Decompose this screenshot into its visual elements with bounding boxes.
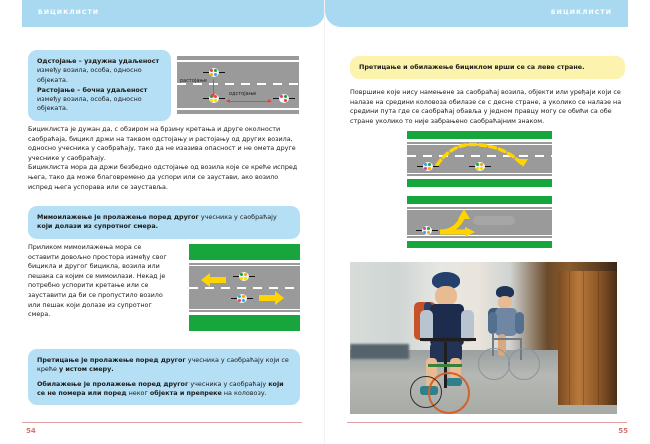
overtaking-line-1: Претицање је пролажење поред другог учес… [37, 356, 291, 375]
bicycle-going-around [416, 226, 438, 235]
asphalt [177, 56, 299, 114]
rider-dot [238, 295, 241, 298]
left-footer-rule [22, 422, 302, 423]
arrow-left-head [201, 273, 210, 287]
rider-dot [480, 167, 483, 170]
rider-dot [427, 231, 430, 234]
grass-bottom [189, 315, 300, 331]
door-slat [569, 271, 570, 405]
bicycle-upper [233, 272, 255, 281]
door-slat [598, 271, 599, 405]
sleeve-right [515, 312, 524, 334]
arrow-right-head [275, 291, 284, 305]
torso [495, 308, 517, 336]
road-diagram-overtaking-cyclist [407, 131, 552, 187]
photo-two-boys-cycling [350, 262, 617, 414]
around-path-arrows [407, 196, 552, 248]
left-page-header: БИЦИКЛИСТИ [22, 0, 325, 27]
rider-dot [214, 69, 217, 72]
rider-dot [284, 99, 287, 102]
rider-dot [476, 163, 479, 166]
rider-dot [423, 231, 426, 234]
rider-dot [210, 73, 213, 76]
road-diagram-distance: растојање одстојање [177, 56, 299, 114]
right-page-header: БИЦИКЛИСТИ [325, 0, 628, 27]
right-page: БИЦИКЛИСТИ Претицање и обилажење бицикло… [325, 0, 650, 444]
yellow-callout-text: Претицање и обилажење бициклом врши се с… [359, 63, 616, 72]
left-page: БИЦИКЛИСТИ Одстојање – уздужна удаљеност… [0, 0, 325, 444]
rider-dot [214, 99, 217, 102]
left-header-label: БИЦИКЛИСТИ [38, 9, 99, 16]
rider-dot [280, 95, 283, 98]
rider-dot [428, 163, 431, 166]
bicycle-being-overtaken [469, 162, 491, 171]
rider-dot [238, 299, 241, 302]
photo-boy-front [402, 272, 488, 410]
bike-toptube [428, 364, 462, 367]
bicycle-lower [231, 294, 253, 303]
bicycle-top [203, 68, 225, 77]
label-rastojanje: растојање [180, 78, 207, 84]
yellow-rule-callout: Претицање и обилажење бициклом врши се с… [350, 56, 625, 79]
rider-dot [210, 69, 213, 72]
bike-wheel-front [508, 348, 540, 380]
left-paragraph-3: Приликом мимоилажења мора се оставити до… [28, 243, 174, 320]
longitudinal-distance-arrow [227, 101, 271, 102]
rider-dot [242, 299, 245, 302]
definition-term-1: Одстојање – уздужна удаљеност између воз… [37, 57, 162, 85]
rider-dot [244, 273, 247, 276]
sleeve-left [488, 312, 497, 334]
label-odstojanje: одстојање [229, 91, 256, 97]
rider-dot [424, 167, 427, 170]
left-page-number: 54 [26, 427, 36, 435]
overtaking-line-2: Обилажење је пролажење поред другог учес… [37, 380, 291, 399]
lateral-distance-arrow [213, 79, 214, 94]
overtake-path-curve [407, 131, 552, 187]
left-paragraph-block: Бициклиста је дужан да, с обзиром на брз… [28, 125, 300, 192]
passing-callout-text: Мимоилажење је пролажење поред другог уч… [37, 213, 291, 232]
door-slat [583, 271, 584, 405]
definition-term-2: Растојање – бочна удаљеност између возил… [37, 86, 162, 114]
rider-dot [240, 273, 243, 276]
definition-callout: Одстојање – уздужна удаљеност између воз… [28, 50, 171, 121]
passing-callout: Мимоилажење је пролажење поред другог уч… [28, 206, 300, 239]
right-page-number: 55 [618, 427, 628, 435]
bike-wheel-rear [410, 376, 442, 408]
handlebar-bar [420, 338, 476, 341]
rider-dot [242, 295, 245, 298]
left-paragraph-2: Бициклиста мора да држи безбедно одстоја… [28, 163, 300, 192]
photo-road [350, 344, 409, 359]
rider-dot [244, 277, 247, 280]
road-diagram-passing-opposite [189, 244, 300, 331]
road-edge-top [189, 265, 300, 266]
right-paragraph-1: Површине које нису намењене за саобраћај… [350, 88, 628, 126]
rider-dot [427, 227, 430, 230]
bike-frame [494, 338, 522, 340]
rider-dot [424, 163, 427, 166]
rider-dot [423, 227, 426, 230]
rider-dot [210, 99, 213, 102]
road-edge-bottom [189, 309, 300, 310]
right-footer-rule [347, 422, 627, 423]
road-diagram-going-around-obstacle [407, 196, 552, 248]
rider-dot [284, 95, 287, 98]
rider-dot [428, 167, 431, 170]
rider-dot [214, 73, 217, 76]
arrow-left-shaft [210, 277, 226, 283]
right-header-label: БИЦИКЛИСТИ [551, 9, 612, 16]
rider-dot [476, 167, 479, 170]
center-dashed-line [189, 287, 300, 289]
rider-dot [240, 277, 243, 280]
book-spread: БИЦИКЛИСТИ Одстојање – уздужна удаљеност… [0, 0, 650, 444]
arrow-right-shaft [259, 295, 275, 301]
photo-wooden-door [558, 271, 617, 405]
rider-dot [280, 99, 283, 102]
grass-top [189, 244, 300, 260]
face [435, 286, 457, 306]
road-edge-bottom [177, 108, 299, 110]
left-paragraph-1: Бициклиста је дужан да, с обзиром на брз… [28, 125, 300, 163]
bicycle-overtaking [417, 162, 439, 171]
bicycle-bottom-right [273, 94, 295, 103]
rider-dot [480, 163, 483, 166]
overtaking-callout: Претицање је пролажење поред другог учес… [28, 349, 300, 405]
road-edge-top [177, 60, 299, 62]
